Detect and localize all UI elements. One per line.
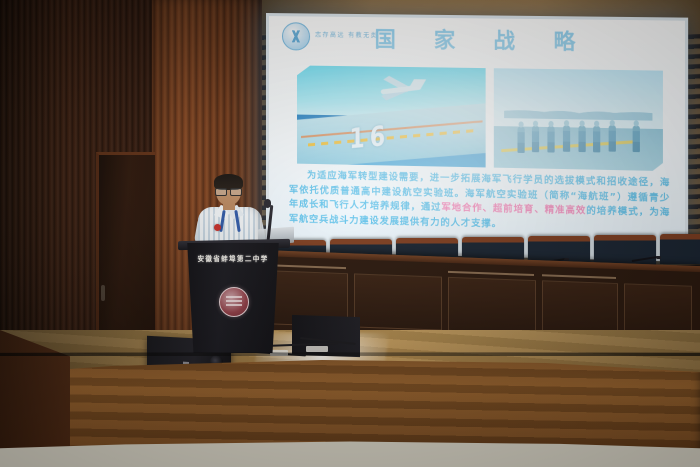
table-panel-highlight bbox=[272, 264, 346, 269]
power-strip bbox=[306, 346, 328, 352]
table-front-panel bbox=[354, 273, 442, 330]
school-seal-icon bbox=[219, 287, 249, 317]
glasses-icon bbox=[215, 188, 242, 194]
gooseneck-microphone-icon[interactable] bbox=[632, 252, 662, 262]
podium: 安徽省蚌埠第二中学 bbox=[181, 243, 285, 353]
table-panel-highlight bbox=[448, 271, 534, 276]
table-front-panel bbox=[542, 280, 618, 337]
red-badge-icon bbox=[214, 224, 221, 231]
slide-body-highlight: 军地合作、超前培育、精准高效 bbox=[441, 203, 586, 216]
fighter-jet-icon bbox=[368, 78, 425, 101]
table-front-panel bbox=[448, 277, 536, 334]
stage-front-facade bbox=[0, 352, 700, 452]
stage-edge-shadow bbox=[0, 352, 700, 356]
table-panel-highlight bbox=[542, 274, 616, 279]
podium-nameplate: 安徽省蚌埠第二中学 bbox=[181, 253, 285, 263]
carrier-hull-number: 16 bbox=[349, 121, 390, 156]
chair[interactable] bbox=[660, 234, 700, 264]
aircraft-carrier-photo: 16 bbox=[297, 65, 486, 167]
auditorium-scene: 志存高远 有教无类 国 家 战 略 16 bbox=[0, 0, 700, 467]
parked-jets bbox=[504, 92, 653, 120]
projection-screen: 志存高远 有教无类 国 家 战 略 16 bbox=[266, 13, 688, 262]
speaker-person bbox=[196, 176, 264, 248]
presentation-slide: 志存高远 有教无类 国 家 战 略 16 bbox=[269, 16, 685, 259]
slide-title: 国 家 战 略 bbox=[269, 22, 685, 58]
pilots-formation-photo bbox=[494, 68, 663, 171]
slide-body-text: 为适应海军转型建设需要，进一步拓展海军飞行学员的选拔模式和招收途径，海军依托优质… bbox=[289, 168, 670, 236]
